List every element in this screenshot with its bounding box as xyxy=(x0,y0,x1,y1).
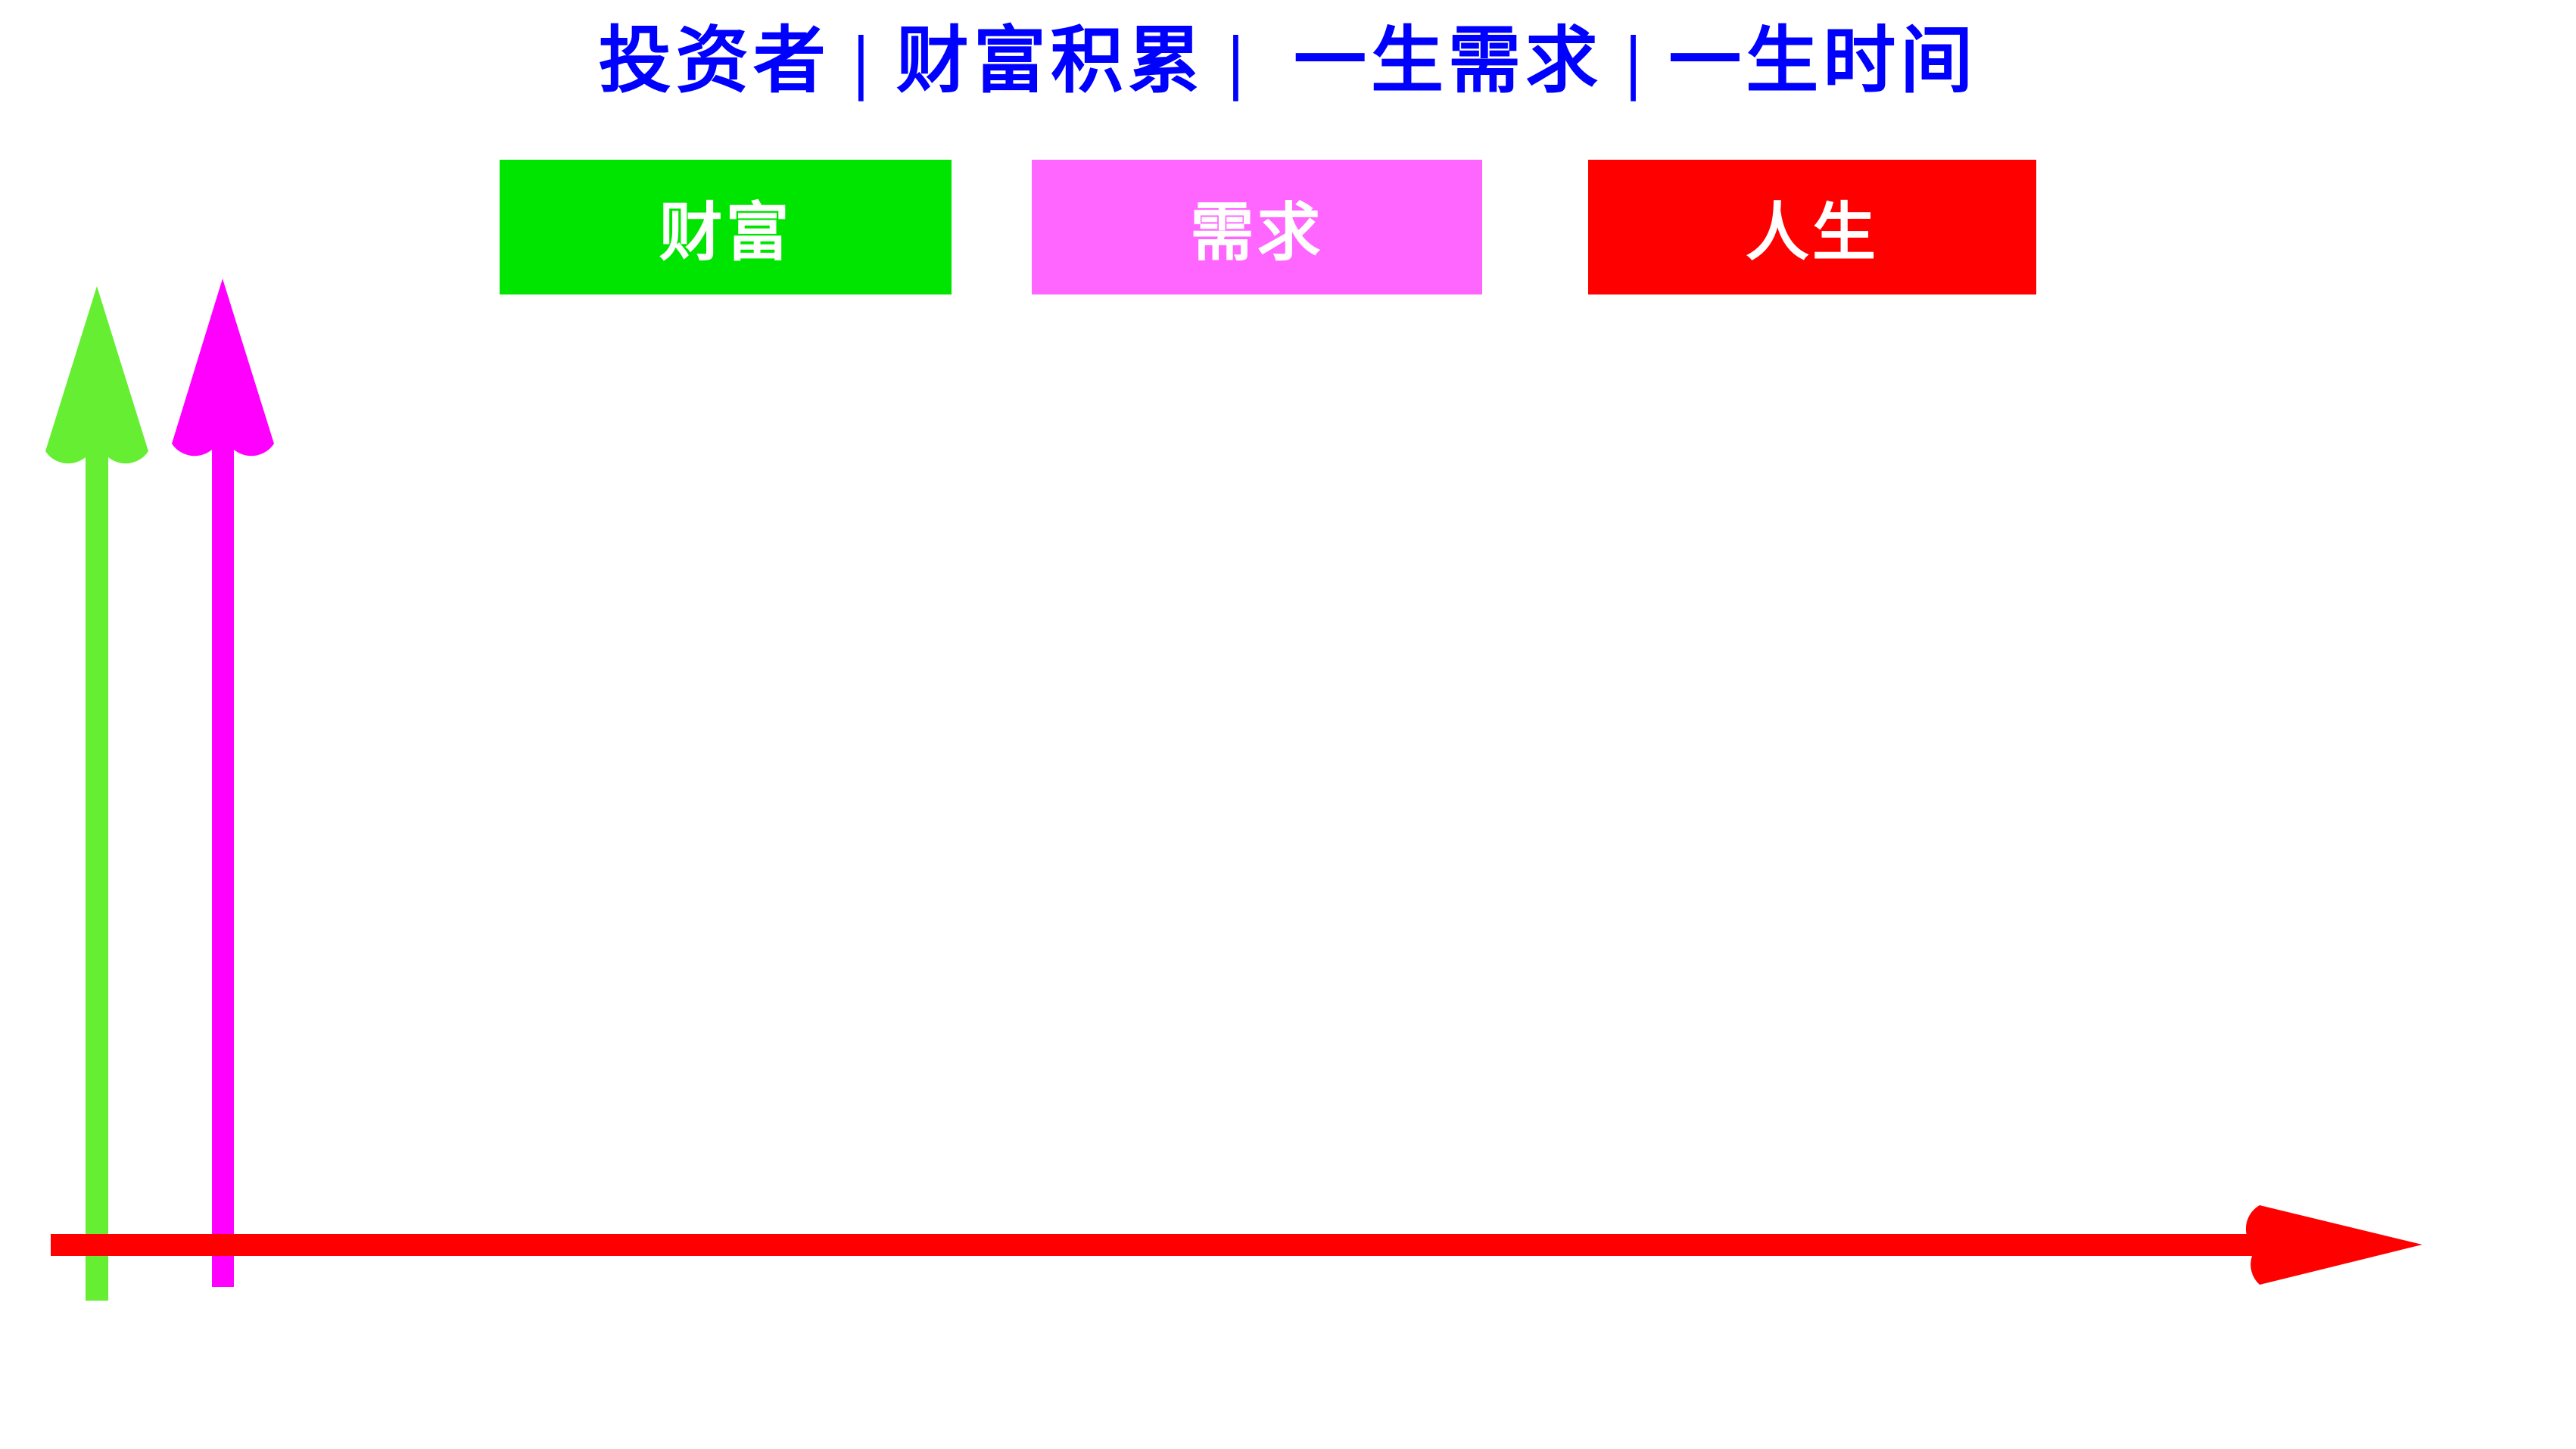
time-axis-arrow xyxy=(51,1205,2422,1285)
wealth-axis-stem xyxy=(86,424,108,1301)
time-axis-stem xyxy=(51,1234,2280,1256)
wealth-axis-arrow xyxy=(45,286,148,1301)
slide-canvas: 投资者 | 财富积累 | 一生需求 | 一生时间 财富 需求 人生 xyxy=(0,0,2576,1449)
need-axis-arrow xyxy=(172,279,274,1287)
time-axis-arrowhead xyxy=(2246,1205,2422,1285)
need-axis-stem xyxy=(212,416,234,1287)
axes-svg xyxy=(0,0,2576,1449)
plot-area xyxy=(0,0,2576,1449)
